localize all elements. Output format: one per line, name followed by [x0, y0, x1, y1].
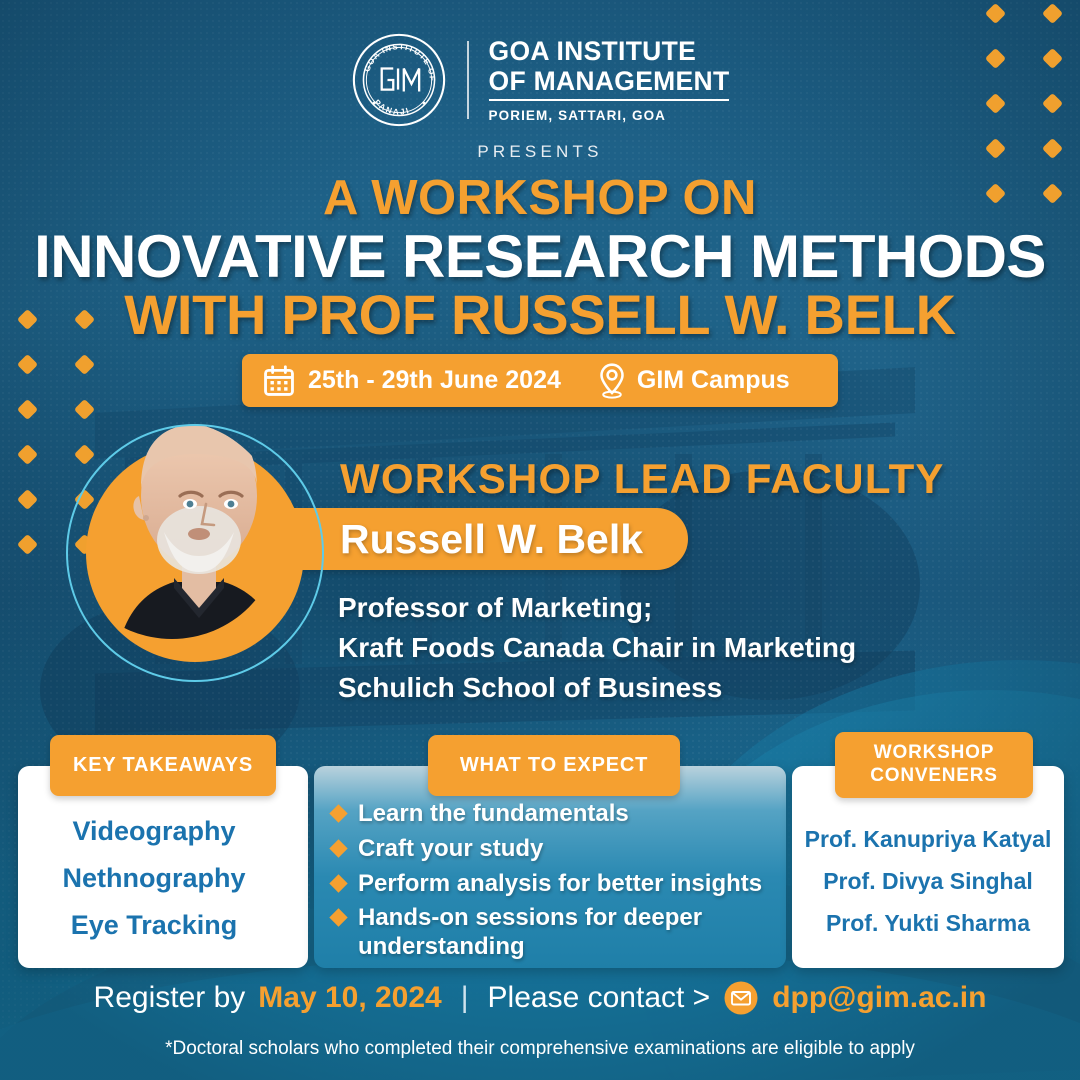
presents-label: PRESENTS — [0, 142, 1080, 162]
title-line-3: WITH PROF RUSSELL W. BELK — [0, 282, 1080, 347]
list-item: Prof. Divya Singhal — [792, 868, 1064, 895]
diamond-bullet-icon — [329, 909, 347, 927]
list-item: Nethnography — [0, 863, 308, 894]
eligibility-disclaimer: *Doctoral scholars who completed their c… — [0, 1038, 1080, 1060]
envelope-icon[interactable] — [723, 980, 759, 1016]
list-item: Learn the fundamentals — [332, 800, 782, 829]
brand-header: GOA INSTITUTE OF MANAGEMENT PANAJI GOA I… — [0, 32, 1080, 128]
list-item: Hands-on sessions for deeper understandi… — [332, 904, 782, 962]
brand-name: GOA INSTITUTE OF MANAGEMENT — [489, 37, 730, 102]
brand-location: PORIEM, SATTARI, GOA — [489, 108, 730, 123]
diamond-bullet-icon — [329, 839, 347, 857]
register-deadline: May 10, 2024 — [258, 981, 441, 1015]
list-item: Videography — [0, 816, 308, 847]
event-date: 25th - 29th June 2024 — [308, 366, 561, 395]
poster: GOA INSTITUTE OF MANAGEMENT PANAJI GOA I… — [0, 0, 1080, 1080]
registration-bar: Register by May 10, 2024 | Please contac… — [0, 980, 1080, 1016]
what-to-expect-list: Learn the fundamentals Craft your study … — [332, 800, 782, 968]
contact-email[interactable]: dpp@gim.ac.in — [772, 981, 986, 1015]
svg-text:PANAJI: PANAJI — [372, 98, 411, 117]
contact-label: Please contact > — [488, 981, 711, 1015]
speaker-portrait — [66, 424, 324, 682]
title-line-2: INNOVATIVE RESEARCH METHODS — [0, 222, 1080, 291]
list-item: Prof. Kanupriya Katyal — [792, 826, 1064, 853]
header-divider — [467, 41, 469, 119]
gim-seal-icon: GOA INSTITUTE OF MANAGEMENT PANAJI — [351, 32, 447, 128]
what-to-expect-heading: WHAT TO EXPECT — [428, 735, 680, 796]
conveners-heading: WORKSHOP CONVENERS — [835, 732, 1033, 798]
diamond-bullet-icon — [329, 874, 347, 892]
list-item: Prof. Yukti Sharma — [792, 910, 1064, 937]
portrait-ring — [66, 424, 324, 682]
event-details-badge: 25th - 29th June 2024 GIM Campus — [242, 354, 838, 407]
event-venue: GIM Campus — [637, 366, 790, 395]
key-takeaways-list: Videography Nethnography Eye Tracking — [0, 816, 308, 957]
separator: | — [461, 981, 469, 1015]
conveners-list: Prof. Kanupriya Katyal Prof. Divya Singh… — [792, 826, 1064, 952]
key-takeaways-heading: KEY TAKEAWAYS — [50, 735, 276, 796]
list-item: Eye Tracking — [0, 910, 308, 941]
faculty-section-label: WORKSHOP LEAD FACULTY — [340, 455, 945, 503]
register-label: Register by — [94, 981, 246, 1015]
location-pin-icon — [595, 362, 629, 400]
list-item: Craft your study — [332, 835, 782, 864]
diamond-bullet-icon — [329, 804, 347, 822]
list-item: Perform analysis for better insights — [332, 870, 782, 899]
faculty-title: Professor of Marketing; Kraft Foods Cana… — [338, 588, 1038, 707]
faculty-name: Russell W. Belk — [340, 516, 643, 563]
title-line-1: A WORKSHOP ON — [0, 170, 1080, 226]
